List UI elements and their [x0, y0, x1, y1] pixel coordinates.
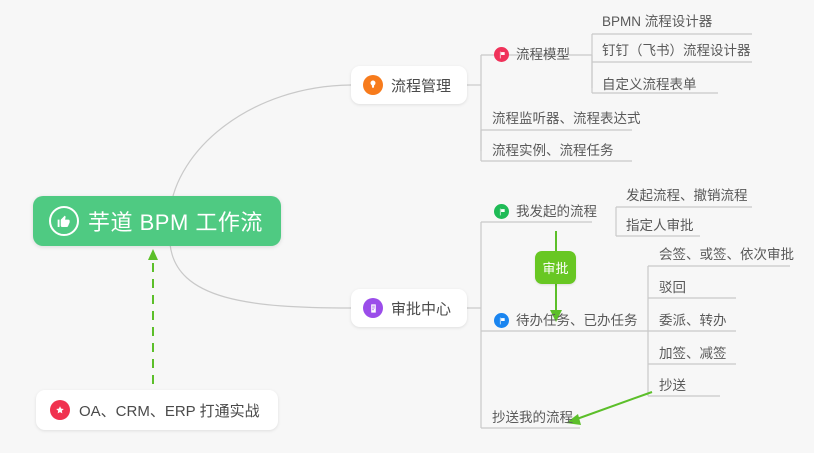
node-dingtalk-designer[interactable]: 钉钉（飞书）流程设计器 — [602, 44, 751, 58]
node-my-initiated[interactable]: 我发起的流程 — [494, 204, 597, 219]
node-process-listener[interactable]: 流程监听器、流程表达式 — [492, 112, 641, 126]
node-process-management[interactable]: 流程管理 — [351, 66, 467, 104]
note-card[interactable]: OA、CRM、ERP 打通实战 — [36, 390, 278, 430]
node-cc[interactable]: 抄送 — [659, 379, 686, 393]
star-icon — [50, 400, 70, 420]
node-assignee-approval[interactable]: 指定人审批 — [626, 219, 694, 233]
node-start-cancel-process[interactable]: 发起流程、撤销流程 — [626, 189, 748, 203]
node-add-remove-sign[interactable]: 加签、减签 — [659, 347, 727, 361]
node-reject[interactable]: 驳回 — [659, 281, 686, 295]
node-label: 待办任务、已办任务 — [516, 314, 638, 328]
node-label: 审批中心 — [391, 298, 451, 319]
thumbs-up-icon — [49, 206, 79, 236]
green-arrow-cc — [566, 392, 652, 425]
mindmap-canvas: 芋道 BPM 工作流 流程管理 流程模型 BPMN 流程设计器 钉钉（飞书）流程… — [0, 0, 814, 453]
document-icon — [363, 298, 383, 318]
approval-tag[interactable]: 审批 — [535, 251, 576, 284]
location-pin-icon — [363, 75, 383, 95]
node-label: 流程模型 — [516, 48, 570, 62]
node-approval-center[interactable]: 审批中心 — [351, 289, 467, 327]
node-todo-done-tasks[interactable]: 待办任务、已办任务 — [494, 313, 638, 328]
node-bpmn-designer[interactable]: BPMN 流程设计器 — [602, 15, 712, 29]
node-custom-form[interactable]: 自定义流程表单 — [602, 78, 697, 92]
node-label: 流程管理 — [391, 75, 451, 96]
node-delegate-transfer[interactable]: 委派、转办 — [659, 314, 727, 328]
green-dashed-arrow — [148, 249, 158, 400]
link-root-to-process-management — [170, 85, 351, 212]
flag-icon — [494, 204, 509, 219]
root-label: 芋道 BPM 工作流 — [88, 205, 263, 237]
flag-icon — [494, 313, 509, 328]
root-node[interactable]: 芋道 BPM 工作流 — [33, 196, 281, 246]
link-root-to-approval-center — [170, 244, 351, 308]
note-label: OA、CRM、ERP 打通实战 — [79, 400, 260, 421]
node-process-instance[interactable]: 流程实例、流程任务 — [492, 144, 614, 158]
node-process-model[interactable]: 流程模型 — [494, 47, 570, 62]
node-cc-to-me[interactable]: 抄送我的流程 — [492, 411, 573, 425]
flag-icon — [494, 47, 509, 62]
node-countersign[interactable]: 会签、或签、依次审批 — [659, 248, 794, 262]
node-label: 我发起的流程 — [516, 205, 597, 219]
